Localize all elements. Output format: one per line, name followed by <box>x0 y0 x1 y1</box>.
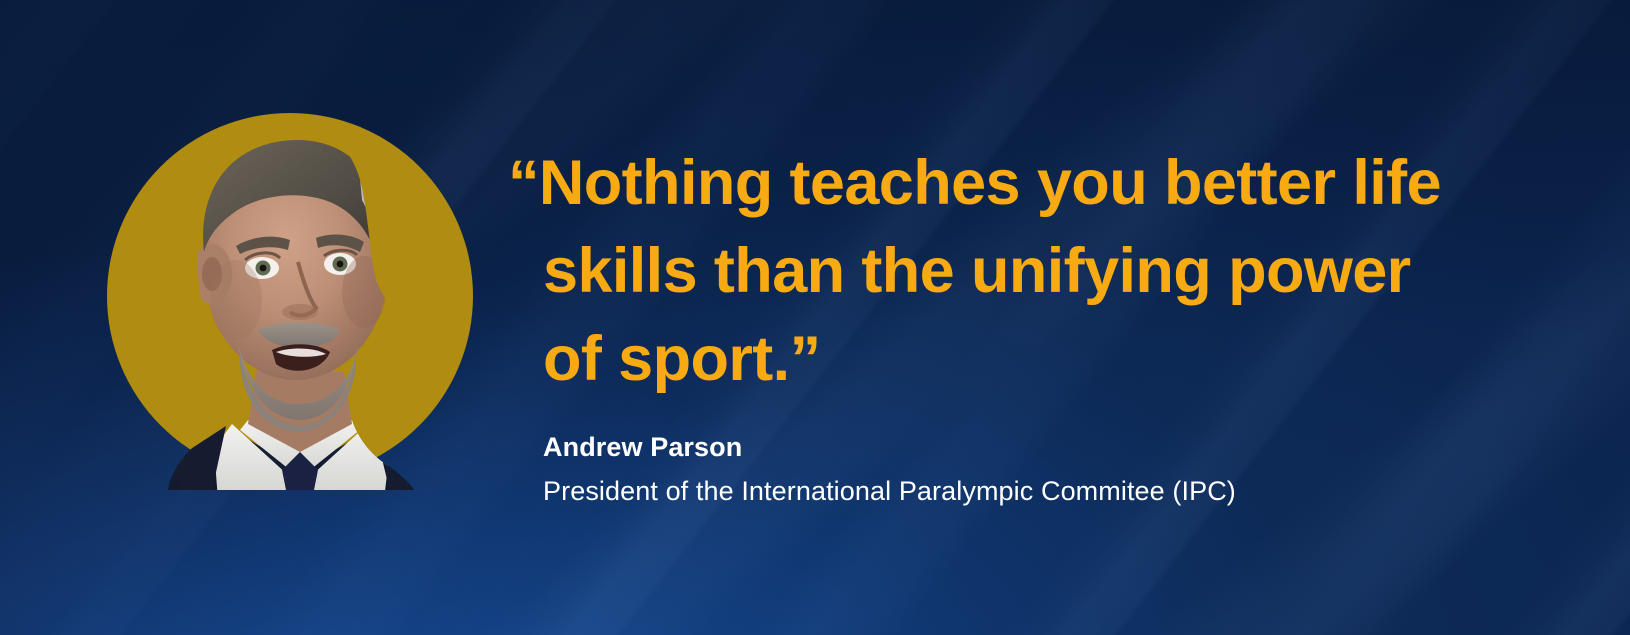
portrait-circle-backdrop <box>107 113 473 479</box>
attribution-role: President of the International Paralympi… <box>543 473 1236 509</box>
quote-banner: “Nothing teaches you better life skills … <box>0 0 1630 635</box>
portrait <box>107 113 473 479</box>
attribution-name: Andrew Parson <box>543 430 1236 464</box>
quote-line-2: skills than the unifying power <box>508 227 1488 315</box>
attribution: Andrew Parson President of the Internati… <box>543 430 1236 509</box>
quote-line-3: of sport.” <box>508 315 1488 403</box>
quote-text: “Nothing teaches you better life skills … <box>508 139 1488 403</box>
quote-line-1: “Nothing teaches you better life <box>508 139 1488 227</box>
